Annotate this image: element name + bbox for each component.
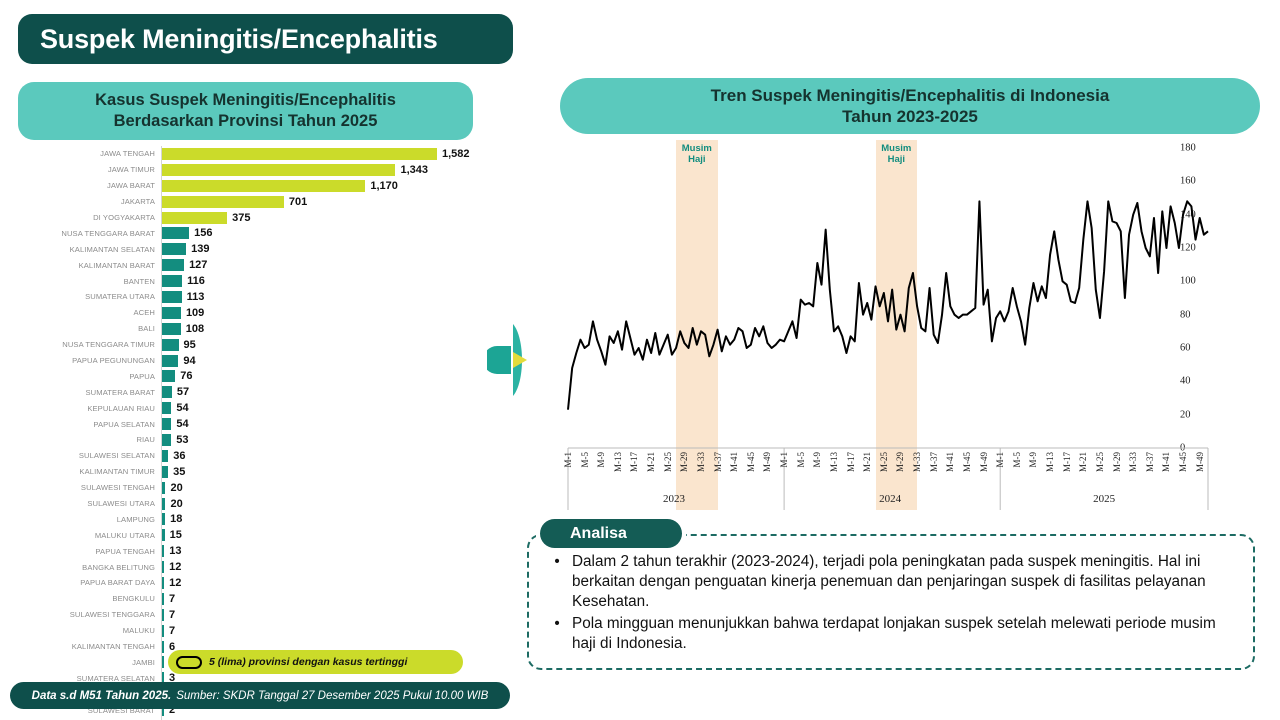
bar-value-label: 1,343	[395, 164, 428, 176]
bar-value-label: 156	[189, 227, 212, 239]
x-axis-tick-label: M-5	[580, 452, 590, 468]
x-axis-tick-label: M-33	[912, 452, 922, 472]
analysis-bullet-icon: •	[552, 552, 562, 613]
bar-fill	[162, 291, 182, 303]
bar-track: 35	[161, 464, 496, 480]
bar-row-label: RIAU	[18, 435, 161, 444]
x-axis-tick-label: M-33	[696, 452, 706, 472]
bar-row-label: MALUKU	[18, 626, 161, 635]
bar-track: 375	[161, 210, 496, 226]
bar-fill	[162, 164, 395, 176]
bar-row-label: JAWA BARAT	[18, 181, 161, 190]
bar-row: NUSA TENGGARA BARAT156	[18, 225, 496, 241]
line-chart-title-line2: Tahun 2023-2025	[842, 106, 978, 127]
x-axis-tick-label: M-25	[663, 452, 673, 472]
bar-track: 12	[161, 559, 496, 575]
bar-track: 53	[161, 432, 496, 448]
bar-row: NUSA TENGGARA TIMUR95	[18, 337, 496, 353]
page-title-text: Suspek Meningitis/Encephalitis	[40, 24, 438, 55]
bar-track: 20	[161, 480, 496, 496]
bar-row-label: BALI	[18, 324, 161, 333]
bar-value-label: 20	[165, 482, 182, 494]
x-axis-tick-label: M-29	[895, 452, 905, 472]
bar-value-label: 116	[182, 275, 205, 287]
x-axis-tick-label: M-29	[679, 452, 689, 472]
analysis-bullet-icon: •	[552, 614, 562, 654]
bar-value-label: 1,582	[437, 148, 470, 160]
bar-track: 113	[161, 289, 496, 305]
x-axis-tick-label: M-13	[613, 452, 623, 472]
x-axis-tick-label: M-41	[945, 452, 955, 472]
bar-value-label: 1,170	[365, 180, 398, 192]
bar-track: 1,170	[161, 178, 496, 194]
bar-value-label: 54	[171, 418, 188, 430]
footer-data-date: Data s.d M51 Tahun 2025.	[32, 690, 172, 702]
bar-row: PAPUA PEGUNUNGAN94	[18, 353, 496, 369]
bar-fill	[162, 275, 182, 287]
bar-row: JAWA TENGAH1,582	[18, 146, 496, 162]
bar-track: 13	[161, 543, 496, 559]
bar-track: 54	[161, 416, 496, 432]
bar-fill	[162, 212, 227, 224]
bar-track: 7	[161, 591, 496, 607]
bar-row-label: JAWA TENGAH	[18, 149, 161, 158]
bar-chart-title: Kasus Suspek Meningitis/Encephalitis Ber…	[18, 82, 473, 140]
bar-row: SULAWESI UTARA20	[18, 496, 496, 512]
bar-row-label: SULAWESI UTARA	[18, 499, 161, 508]
analysis-item-text: Dalam 2 tahun terakhir (2023-2024), terj…	[572, 552, 1242, 613]
x-axis-tick-label: M-37	[1145, 452, 1155, 472]
x-axis-tick-label: M-1	[563, 452, 573, 468]
bar-row-label: SULAWESI TENGAH	[18, 483, 161, 492]
bar-row: BANGKA BELITUNG12	[18, 559, 496, 575]
bar-row-label: BENGKULU	[18, 594, 161, 603]
bar-row: SULAWESI SELATAN36	[18, 448, 496, 464]
bar-value-label: 113	[182, 291, 205, 303]
bar-row: KALIMANTAN BARAT127	[18, 257, 496, 273]
bar-value-label: 7	[164, 609, 175, 621]
top5-legend-label: 5 (lima) provinsi dengan kasus tertinggi	[209, 656, 407, 668]
bar-value-label: 36	[168, 450, 185, 462]
bar-value-label: 109	[181, 307, 204, 319]
bar-row-label: JAWA TIMUR	[18, 165, 161, 174]
bar-value-label: 13	[164, 545, 181, 557]
line-chart-title: Tren Suspek Meningitis/Encephalitis di I…	[560, 78, 1260, 134]
bar-row-label: NUSA TENGGARA TIMUR	[18, 340, 161, 349]
page-title: Suspek Meningitis/Encephalitis	[18, 14, 513, 64]
bar-row: KALIMANTAN TIMUR35	[18, 464, 496, 480]
x-axis-tick-label: M-9	[812, 452, 822, 468]
bar-value-label: 12	[164, 577, 181, 589]
bar-row-label: SUMATERA BARAT	[18, 388, 161, 397]
bar-row-label: PAPUA	[18, 372, 161, 381]
analysis-item-text: Pola mingguan menunjukkan bahwa terdapat…	[572, 614, 1242, 654]
trend-line-path	[568, 201, 1208, 409]
bar-row-label: PAPUA PEGUNUNGAN	[18, 356, 161, 365]
bar-value-label: 7	[164, 593, 175, 605]
bar-row: JAWA TIMUR1,343	[18, 162, 496, 178]
bar-fill	[162, 227, 189, 239]
bar-value-label: 12	[164, 561, 181, 573]
bar-track: 1,343	[161, 162, 496, 178]
bar-row-label: SULAWESI TENGGARA	[18, 610, 161, 619]
bar-row-label: DI YOGYAKARTA	[18, 213, 161, 222]
bar-row: ACEH109	[18, 305, 496, 321]
bar-row: BANTEN116	[18, 273, 496, 289]
x-axis-tick-label: M-17	[1062, 452, 1072, 472]
x-axis-tick-label: M-41	[1161, 452, 1171, 472]
bar-row: SULAWESI TENGGARA7	[18, 607, 496, 623]
bar-fill	[162, 307, 181, 319]
x-axis-tick-label: M-49	[1195, 452, 1205, 472]
bar-value-label: 18	[165, 513, 182, 525]
x-axis-tick-label: M-17	[629, 452, 639, 472]
bar-value-label: 108	[181, 323, 204, 335]
x-axis-tick-label: M-37	[713, 452, 723, 472]
bar-row-label: LAMPUNG	[18, 515, 161, 524]
x-axis-tick-label: M-21	[646, 452, 656, 472]
x-axis-tick-label: M-9	[596, 452, 606, 468]
bar-row: BENGKULU7	[18, 591, 496, 607]
bar-value-label: 53	[171, 434, 188, 446]
bar-track: 18	[161, 511, 496, 527]
x-axis-tick-label: M-5	[796, 452, 806, 468]
bar-row-label: SUMATERA UTARA	[18, 292, 161, 301]
bar-value-label: 20	[165, 498, 182, 510]
bar-row-label: KALIMANTAN BARAT	[18, 261, 161, 270]
bar-track: 1,582	[161, 146, 496, 162]
province-bar-chart: JAWA TENGAH1,582JAWA TIMUR1,343JAWA BARA…	[18, 146, 496, 668]
x-axis-tick-label: M-45	[962, 452, 972, 472]
bar-row: KALIMANTAN SELATAN139	[18, 241, 496, 257]
x-axis-year-label: 2024	[784, 493, 996, 505]
bar-row: KEPULAUAN RIAU54	[18, 400, 496, 416]
bar-row: PAPUA76	[18, 368, 496, 384]
bar-value-label: 7	[164, 625, 175, 637]
bar-chart-title-line1: Kasus Suspek Meningitis/Encephalitis	[95, 90, 396, 111]
bar-track: 15	[161, 527, 496, 543]
bar-value-label: 35	[168, 466, 185, 478]
bar-track: 20	[161, 496, 496, 512]
slide-root: Suspek Meningitis/Encephalitis Kasus Sus…	[0, 0, 1280, 720]
bar-row-label: PAPUA TENGAH	[18, 547, 161, 556]
x-axis-tick-label: M-41	[729, 452, 739, 472]
bar-row: LAMPUNG18	[18, 511, 496, 527]
bar-value-label: 15	[165, 529, 182, 541]
rounded-pill-swatch-icon	[176, 656, 202, 669]
bar-track: 36	[161, 448, 496, 464]
x-axis-tick-label: M-17	[846, 452, 856, 472]
bar-chart-title-line2: Berdasarkan Provinsi Tahun 2025	[114, 111, 378, 132]
bar-track: 94	[161, 353, 496, 369]
x-axis-tick-label: M-1	[995, 452, 1005, 468]
bar-fill	[162, 386, 172, 398]
analysis-tag-label: Analisa	[570, 525, 627, 543]
bar-fill	[162, 148, 437, 160]
bar-row: JAKARTA701	[18, 194, 496, 210]
bar-row: PAPUA TENGAH13	[18, 543, 496, 559]
footer-source-text: Sumber: SKDR Tanggal 27 Desember 2025 Pu…	[176, 690, 488, 702]
x-axis-year-label: 2025	[1000, 493, 1208, 505]
bar-track: 54	[161, 400, 496, 416]
bar-row-label: KALIMANTAN TIMUR	[18, 467, 161, 476]
bar-fill	[162, 323, 181, 335]
x-axis-tick-label: M-1	[779, 452, 789, 468]
x-axis-tick-label: M-25	[879, 452, 889, 472]
x-axis-tick-label: M-5	[1012, 452, 1022, 468]
x-axis-tick-label: M-33	[1128, 452, 1138, 472]
bar-value-label: 139	[186, 243, 209, 255]
footer-source: Data s.d M51 Tahun 2025. Sumber: SKDR Ta…	[10, 682, 510, 709]
x-axis-tick-label: M-9	[1028, 452, 1038, 468]
bar-fill	[162, 180, 365, 192]
bar-row-label: MALUKU UTARA	[18, 531, 161, 540]
analysis-tag: Analisa	[540, 519, 682, 548]
bar-track: 116	[161, 273, 496, 289]
analysis-item: •Pola mingguan menunjukkan bahwa terdapa…	[552, 614, 1242, 654]
bar-row: SUMATERA UTARA113	[18, 289, 496, 305]
bar-row: PAPUA SELATAN54	[18, 416, 496, 432]
bar-row-label: KALIMANTAN TENGAH	[18, 642, 161, 651]
x-axis-year-label: 2023	[568, 493, 780, 505]
bar-row: SULAWESI TENGAH20	[18, 480, 496, 496]
bar-row-label: ACEH	[18, 308, 161, 317]
x-axis-tick-label: M-29	[1112, 452, 1122, 472]
bar-value-label: 54	[171, 402, 188, 414]
bar-row: SUMATERA BARAT57	[18, 384, 496, 400]
bar-track: 108	[161, 321, 496, 337]
bar-fill	[162, 243, 186, 255]
x-axis-tick-label: M-21	[1078, 452, 1088, 472]
bar-track: 109	[161, 305, 496, 321]
bar-fill	[162, 370, 175, 382]
bar-value-label: 95	[179, 339, 196, 351]
bar-track: 12	[161, 575, 496, 591]
trend-line-chart: 020406080100120140160180MusimHajiMusimHa…	[520, 140, 1220, 515]
x-axis-tick-label: M-49	[762, 452, 772, 472]
bar-row: MALUKU7	[18, 623, 496, 639]
bar-fill	[162, 259, 184, 271]
bar-track: 701	[161, 194, 496, 210]
bar-row: JAWA BARAT1,170	[18, 178, 496, 194]
bar-row: RIAU53	[18, 432, 496, 448]
line-chart-title-line1: Tren Suspek Meningitis/Encephalitis di I…	[711, 85, 1110, 106]
bar-row-label: PAPUA SELATAN	[18, 420, 161, 429]
bar-track: 156	[161, 225, 496, 241]
bar-row: BALI108	[18, 321, 496, 337]
bar-track: 95	[161, 337, 496, 353]
x-axis-tick-label: M-45	[1178, 452, 1188, 472]
bar-value-label: 57	[172, 386, 189, 398]
bar-fill	[162, 434, 171, 446]
bar-row-label: BANTEN	[18, 277, 161, 286]
bar-row-label: JAMBI	[18, 658, 161, 667]
bar-row-label: KEPULAUAN RIAU	[18, 404, 161, 413]
bar-track: 76	[161, 368, 496, 384]
top5-legend: 5 (lima) provinsi dengan kasus tertinggi	[168, 650, 463, 674]
bar-fill	[162, 418, 171, 430]
bar-fill	[162, 339, 179, 351]
bar-row: DI YOGYAKARTA375	[18, 210, 496, 226]
bar-fill	[162, 355, 178, 367]
bar-value-label: 375	[227, 212, 250, 224]
bar-row: MALUKU UTARA15	[18, 527, 496, 543]
x-axis-tick-label: M-21	[862, 452, 872, 472]
bar-value-label: 127	[184, 259, 207, 271]
x-axis-tick-label: M-25	[1095, 452, 1105, 472]
bar-track: 7	[161, 623, 496, 639]
analysis-item: •Dalam 2 tahun terakhir (2023-2024), ter…	[552, 552, 1242, 613]
analysis-list: •Dalam 2 tahun terakhir (2023-2024), ter…	[552, 552, 1242, 655]
bar-value-label: 76	[175, 370, 192, 382]
x-axis-tick-label: M-45	[746, 452, 756, 472]
bar-track: 7	[161, 607, 496, 623]
bar-fill	[162, 402, 171, 414]
bar-row-label: NUSA TENGGARA BARAT	[18, 229, 161, 238]
bar-row: PAPUA BARAT DAYA12	[18, 575, 496, 591]
bar-row-label: BANGKA BELITUNG	[18, 563, 161, 572]
bar-track: 57	[161, 384, 496, 400]
bar-value-label: 94	[178, 355, 195, 367]
x-axis-tick-label: M-37	[929, 452, 939, 472]
bar-row-label: PAPUA BARAT DAYA	[18, 578, 161, 587]
x-axis-tick-label: M-13	[829, 452, 839, 472]
bar-row-label: SULAWESI SELATAN	[18, 451, 161, 460]
x-axis-tick-label: M-49	[979, 452, 989, 472]
bar-fill	[162, 196, 284, 208]
bar-row-label: KALIMANTAN SELATAN	[18, 245, 161, 254]
bar-track: 127	[161, 257, 496, 273]
bar-row-label: JAKARTA	[18, 197, 161, 206]
x-axis-tick-label: M-13	[1045, 452, 1055, 472]
bar-track: 139	[161, 241, 496, 257]
bar-value-label: 701	[284, 196, 307, 208]
